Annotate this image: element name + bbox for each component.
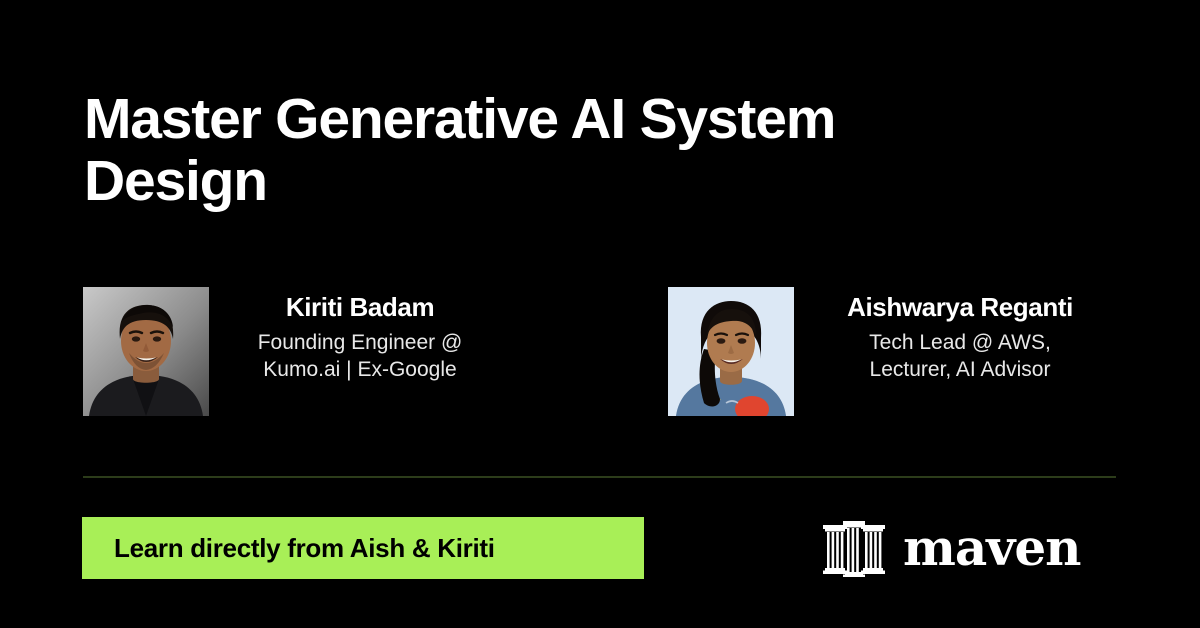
promo-banner: Master Generative AI System Design [0,0,1200,628]
speaker-card-aishwarya-reganti: Aishwarya Reganti Tech Lead @ AWS, Lectu… [668,287,1100,416]
section-divider [83,476,1116,478]
maven-wordmark: maven [903,522,1081,574]
maven-logo[interactable]: maven [823,514,1081,582]
speakers-row: Kiriti Badam Founding Engineer @ Kumo.ai… [0,287,1200,422]
avatar-kiriti-badam [83,287,209,416]
cta-banner[interactable]: Learn directly from Aish & Kiriti [82,517,644,579]
speaker-role: Founding Engineer @ Kumo.ai | Ex-Google [235,329,485,383]
speaker-name: Kiriti Badam [235,291,485,323]
speaker-card-kiriti-badam: Kiriti Badam Founding Engineer @ Kumo.ai… [83,287,485,416]
columns-icon [823,519,885,577]
cta-label: Learn directly from Aish & Kiriti [82,533,495,564]
speaker-info: Aishwarya Reganti Tech Lead @ AWS, Lectu… [820,287,1100,383]
speaker-name: Aishwarya Reganti [820,291,1100,323]
page-title: Master Generative AI System Design [84,88,984,212]
speaker-info: Kiriti Badam Founding Engineer @ Kumo.ai… [235,287,485,383]
speaker-role: Tech Lead @ AWS, Lecturer, AI Advisor [820,329,1100,383]
avatar-aishwarya-reganti [668,287,794,416]
